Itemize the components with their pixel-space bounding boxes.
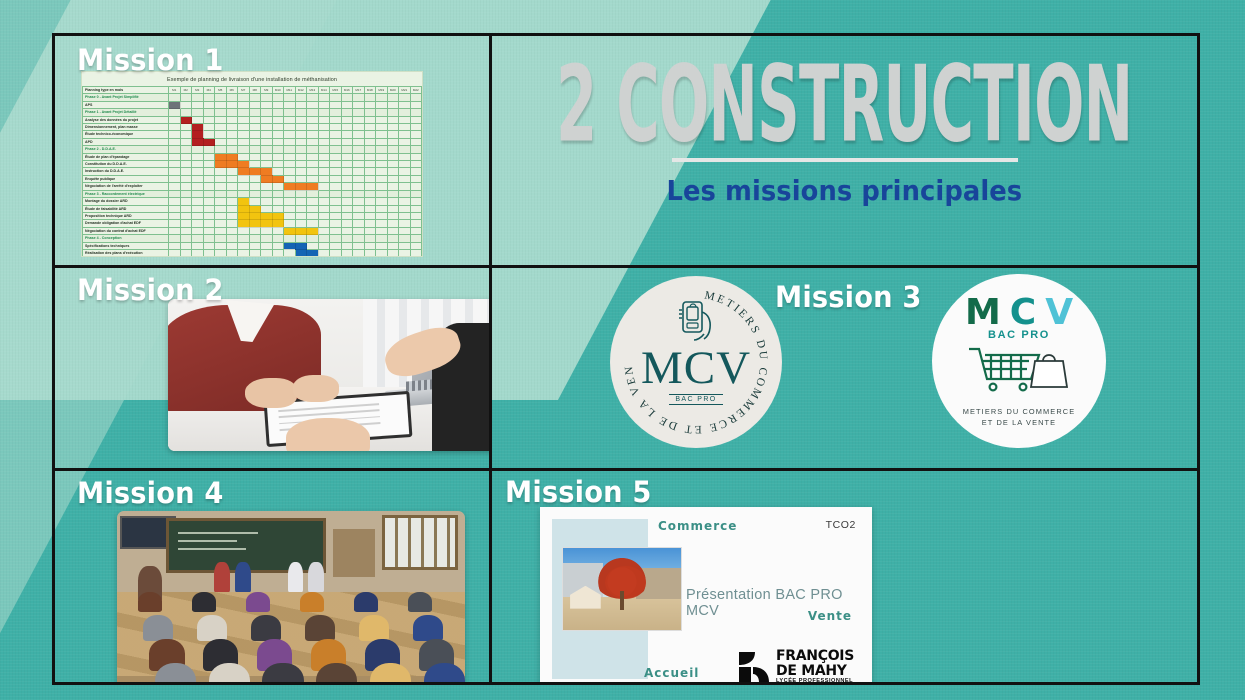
gantt-cell xyxy=(226,205,238,212)
gantt-cell xyxy=(169,242,181,249)
panel-mission-3[interactable]: Mission 3 METIERS DU COMMERCE ET DE LA V… xyxy=(492,268,1197,471)
gantt-cell xyxy=(410,235,422,242)
gantt-cell xyxy=(353,220,365,227)
gantt-cell xyxy=(376,190,388,197)
gantt-cell xyxy=(249,168,261,175)
gantt-cell xyxy=(238,242,250,249)
gantt-row: Phase 3 - Raccordement électrique xyxy=(83,190,422,197)
gantt-cell xyxy=(249,242,261,249)
gantt-cell xyxy=(284,116,296,123)
gantt-month-header: M8 xyxy=(249,87,261,94)
gantt-cell xyxy=(192,116,204,123)
gantt-row-label: Étude de plan d'épandage xyxy=(83,153,169,160)
gantt-month-header: M14 xyxy=(318,87,330,94)
gantt-cell xyxy=(169,220,181,227)
gantt-cell xyxy=(169,175,181,182)
gantt-cell xyxy=(192,205,204,212)
gantt-cell xyxy=(410,138,422,145)
gantt-cell xyxy=(169,183,181,190)
classroom-pupil xyxy=(138,592,162,612)
gantt-cell xyxy=(192,198,204,205)
classroom-pupil xyxy=(246,592,270,612)
gantt-row: Réalisation des plans d'exécution xyxy=(83,249,422,256)
gantt-cell xyxy=(376,109,388,116)
gantt-row-label: Constitution du D.D.A.E. xyxy=(83,161,169,168)
gantt-cell xyxy=(180,138,192,145)
gantt-cell xyxy=(295,116,307,123)
gantt-cell xyxy=(307,94,319,101)
gantt-cell xyxy=(284,94,296,101)
classroom-pupil xyxy=(300,592,324,612)
gantt-cell xyxy=(376,153,388,160)
gantt-row: APS xyxy=(83,101,422,108)
gantt-cell xyxy=(192,138,204,145)
gantt-month-header: M21 xyxy=(399,87,411,94)
gantt-cell xyxy=(295,190,307,197)
gantt-cell xyxy=(169,94,181,101)
gantt-cell xyxy=(307,198,319,205)
gantt-cell xyxy=(272,94,284,101)
gantt-cell xyxy=(330,220,342,227)
gantt-cell xyxy=(261,175,273,182)
gantt-cell xyxy=(387,94,399,101)
gantt-cell xyxy=(180,249,192,256)
gantt-cell xyxy=(215,235,227,242)
gantt-cell xyxy=(215,205,227,212)
gantt-cell xyxy=(341,124,353,131)
gantt-cell xyxy=(249,124,261,131)
school-subtitle: LYCÉE PROFESSIONNEL xyxy=(776,678,854,682)
gantt-cell xyxy=(307,161,319,168)
gantt-cell xyxy=(295,249,307,256)
gantt-cell xyxy=(410,190,422,197)
gantt-cell xyxy=(318,116,330,123)
gantt-month-header: M1 xyxy=(169,87,181,94)
gantt-cell xyxy=(341,235,353,242)
gantt-cell xyxy=(353,190,365,197)
gantt-row: Étude de plan d'épandage xyxy=(83,153,422,160)
gantt-cell xyxy=(180,109,192,116)
gantt-cell xyxy=(238,249,250,256)
gantt-cell xyxy=(318,220,330,227)
gantt-cell xyxy=(226,198,238,205)
gantt-cell xyxy=(307,153,319,160)
gantt-cell xyxy=(261,131,273,138)
gantt-cell xyxy=(307,227,319,234)
gantt-cell xyxy=(180,190,192,197)
gantt-cell xyxy=(410,131,422,138)
gantt-cell xyxy=(226,227,238,234)
gantt-row-label: Réalisation des plans d'exécution xyxy=(83,249,169,256)
gantt-cell xyxy=(215,161,227,168)
gantt-cell xyxy=(399,161,411,168)
gantt-cell xyxy=(410,227,422,234)
gantt-cell xyxy=(169,131,181,138)
gantt-cell xyxy=(180,124,192,131)
gantt-cell xyxy=(272,124,284,131)
gantt-cell xyxy=(192,183,204,190)
gantt-row-label: Négociation du contrat d'achat EDF xyxy=(83,227,169,234)
gantt-cell xyxy=(341,131,353,138)
mcv-footer-line-1: METIERS DU COMMERCE xyxy=(963,407,1075,418)
gantt-cell xyxy=(318,131,330,138)
gantt-row: APD xyxy=(83,138,422,145)
gantt-cell xyxy=(399,94,411,101)
gantt-cell xyxy=(330,190,342,197)
gantt-row: Proposition technique ARD xyxy=(83,212,422,219)
gantt-cell xyxy=(376,198,388,205)
gantt-cell xyxy=(284,212,296,219)
gantt-cell xyxy=(238,190,250,197)
mission-2-label: Mission 2 xyxy=(77,273,224,307)
gantt-cell xyxy=(399,168,411,175)
gantt-cell xyxy=(192,190,204,197)
gantt-cell xyxy=(169,153,181,160)
slide-photo xyxy=(562,547,682,631)
gantt-cell xyxy=(261,161,273,168)
gantt-cell xyxy=(387,220,399,227)
gantt-month-header: M16 xyxy=(341,87,353,94)
gantt-cell xyxy=(238,138,250,145)
gantt-cell xyxy=(192,242,204,249)
gantt-cell xyxy=(353,198,365,205)
gantt-cell xyxy=(238,168,250,175)
gantt-cell xyxy=(318,161,330,168)
gantt-cell xyxy=(238,175,250,182)
gantt-cell xyxy=(387,101,399,108)
gantt-cell xyxy=(318,138,330,145)
gantt-cell xyxy=(203,190,215,197)
gantt-cell xyxy=(169,124,181,131)
gantt-month-header: M10 xyxy=(272,87,284,94)
gantt-cell xyxy=(364,198,376,205)
gantt-cell xyxy=(249,249,261,256)
gantt-row-label: Phase 4 - Conception xyxy=(83,235,169,242)
gantt-cell xyxy=(318,242,330,249)
gantt-cell xyxy=(169,161,181,168)
gantt-cell xyxy=(180,116,192,123)
gantt-cell xyxy=(272,109,284,116)
mcv-letter-v: V xyxy=(1045,295,1073,331)
gantt-month-header: M15 xyxy=(330,87,342,94)
gantt-cell xyxy=(180,220,192,227)
gantt-cell xyxy=(261,101,273,108)
gantt-cell xyxy=(169,235,181,242)
gantt-cell xyxy=(364,138,376,145)
gantt-cell xyxy=(353,161,365,168)
slide-tag-vente: Vente xyxy=(808,609,852,623)
gantt-cell xyxy=(341,153,353,160)
gantt-cell xyxy=(203,116,215,123)
gantt-cell xyxy=(353,146,365,153)
gantt-cell xyxy=(364,249,376,256)
mcv-modern-logo: M C V BAC PRO xyxy=(932,274,1106,448)
gantt-cell xyxy=(307,183,319,190)
gantt-month-header: M22 xyxy=(410,87,422,94)
gantt-month-header: M5 xyxy=(215,87,227,94)
gantt-cell xyxy=(284,175,296,182)
gantt-cell xyxy=(272,183,284,190)
gantt-cell xyxy=(410,161,422,168)
classroom-pupil xyxy=(408,592,432,612)
panel-mission-4[interactable]: Mission 4 xyxy=(55,471,492,682)
gantt-cell xyxy=(341,190,353,197)
gantt-cell xyxy=(376,101,388,108)
gantt-cell xyxy=(215,168,227,175)
gantt-cell xyxy=(295,153,307,160)
gantt-cell xyxy=(318,153,330,160)
gantt-cell xyxy=(272,205,284,212)
gantt-row-label: Analyse des données du projet xyxy=(83,116,169,123)
gantt-cell xyxy=(387,212,399,219)
gantt-cell xyxy=(261,116,273,123)
gantt-cell xyxy=(341,161,353,168)
gantt-cell xyxy=(341,183,353,190)
gantt-cell xyxy=(399,131,411,138)
gantt-cell xyxy=(399,116,411,123)
mcv-letters: M C V xyxy=(965,295,1073,331)
gantt-cell xyxy=(215,124,227,131)
gantt-cell xyxy=(341,205,353,212)
gantt-cell xyxy=(376,249,388,256)
gantt-cell xyxy=(272,190,284,197)
gantt-cell xyxy=(272,235,284,242)
panel-mission-5[interactable]: Mission 5 Commerce TCO2 Présentation BAC… xyxy=(492,471,1197,682)
gantt-row-label: Spécifications techniques xyxy=(83,242,169,249)
gantt-cell xyxy=(307,131,319,138)
gantt-cell xyxy=(410,183,422,190)
gantt-cell xyxy=(226,101,238,108)
gantt-cell xyxy=(318,146,330,153)
gantt-cell xyxy=(330,198,342,205)
gantt-cell xyxy=(330,205,342,212)
gantt-cell xyxy=(295,101,307,108)
gantt-row: Dimensionnement, plan masse xyxy=(83,124,422,131)
gantt-cell xyxy=(284,227,296,234)
gantt-cell xyxy=(284,168,296,175)
gantt-cell xyxy=(353,109,365,116)
gantt-row: Étude de faisabilité ARD xyxy=(83,205,422,212)
slide-tag-commerce: Commerce xyxy=(658,519,737,533)
gantt-cell xyxy=(295,131,307,138)
gantt-cell xyxy=(295,161,307,168)
gantt-cell xyxy=(169,116,181,123)
panel-mission-1[interactable]: Mission 1 Exemple de planning de livrais… xyxy=(55,36,492,268)
gantt-cell xyxy=(307,138,319,145)
gantt-cell xyxy=(399,205,411,212)
gantt-row: Montage du dossier ARD xyxy=(83,198,422,205)
gantt-cell xyxy=(284,198,296,205)
gantt-cell xyxy=(284,249,296,256)
gantt-cell xyxy=(399,175,411,182)
gantt-cell xyxy=(307,124,319,131)
gantt-cell xyxy=(376,138,388,145)
gantt-month-header: M4 xyxy=(203,87,215,94)
classroom-pupil xyxy=(143,615,173,641)
gantt-cell xyxy=(387,249,399,256)
gantt-cell xyxy=(272,175,284,182)
gantt-cell xyxy=(180,212,192,219)
gantt-cell xyxy=(226,131,238,138)
gantt-row-label: Montage du dossier ARD xyxy=(83,198,169,205)
gantt-row: Instruction du D.D.A.E. xyxy=(83,168,422,175)
gantt-cell xyxy=(192,235,204,242)
gantt-cell xyxy=(387,109,399,116)
gantt-cell xyxy=(203,153,215,160)
gantt-cell xyxy=(364,227,376,234)
gantt-cell xyxy=(353,235,365,242)
gantt-cell xyxy=(364,131,376,138)
gantt-cell xyxy=(364,168,376,175)
gantt-cell xyxy=(399,235,411,242)
gantt-cell xyxy=(307,116,319,123)
gantt-row: Phase 4 - Conception xyxy=(83,235,422,242)
slide-tag-accueil: Accueil xyxy=(644,666,699,680)
gantt-cell xyxy=(399,242,411,249)
gantt-cell xyxy=(180,198,192,205)
gantt-cell xyxy=(180,242,192,249)
gantt-cell xyxy=(203,242,215,249)
gantt-cell xyxy=(295,205,307,212)
gantt-month-header: M2 xyxy=(180,87,192,94)
gantt-cell xyxy=(353,227,365,234)
gantt-cell xyxy=(376,227,388,234)
gantt-cell xyxy=(215,227,227,234)
gantt-cell xyxy=(410,94,422,101)
gantt-cell xyxy=(261,242,273,249)
gantt-cell xyxy=(272,249,284,256)
gantt-cell xyxy=(238,205,250,212)
mcv-modern-bacpro: BAC PRO xyxy=(988,329,1050,341)
gantt-cell xyxy=(261,183,273,190)
gantt-cell xyxy=(387,116,399,123)
gantt-cell xyxy=(226,190,238,197)
gantt-cell xyxy=(364,161,376,168)
gantt-cell xyxy=(410,146,422,153)
school-logo-mark xyxy=(737,650,771,682)
gantt-cell xyxy=(249,175,261,182)
mcv-footer-line-2: ET DE LA VENTE xyxy=(963,418,1075,429)
gantt-cell xyxy=(295,124,307,131)
gantt-cell xyxy=(387,242,399,249)
gantt-cell xyxy=(376,242,388,249)
gantt-cell xyxy=(261,94,273,101)
gantt-cell xyxy=(226,116,238,123)
panel-mission-2[interactable]: Mission 2 xyxy=(55,268,492,471)
gantt-cell xyxy=(226,161,238,168)
gantt-cell xyxy=(399,153,411,160)
gantt-cell xyxy=(364,116,376,123)
gantt-cell xyxy=(410,198,422,205)
gantt-cell xyxy=(410,249,422,256)
gantt-cell xyxy=(180,175,192,182)
gantt-cell xyxy=(318,205,330,212)
gantt-cell xyxy=(192,131,204,138)
gantt-cell xyxy=(330,153,342,160)
gantt-cell xyxy=(203,131,215,138)
gantt-cell xyxy=(341,227,353,234)
gantt-cell xyxy=(318,190,330,197)
gantt-row: Étude technico-économique xyxy=(83,131,422,138)
gantt-cell xyxy=(341,116,353,123)
gantt-cell xyxy=(215,198,227,205)
school-logo: FRANÇOIS DE MAHY LYCÉE PROFESSIONNEL xyxy=(737,649,854,682)
gantt-cell xyxy=(192,124,204,131)
gantt-cell xyxy=(261,109,273,116)
gantt-cell xyxy=(318,101,330,108)
gantt-cell xyxy=(215,116,227,123)
gantt-cell xyxy=(399,198,411,205)
gantt-month-header: M9 xyxy=(261,87,273,94)
gantt-body: Phase 0 - Avant Projet SimplifiéAPSPhase… xyxy=(83,94,422,257)
gantt-cell xyxy=(284,101,296,108)
gantt-cell xyxy=(364,183,376,190)
gantt-cell xyxy=(284,242,296,249)
gantt-cell xyxy=(215,101,227,108)
classroom-pupil xyxy=(197,615,227,641)
gantt-cell xyxy=(376,116,388,123)
gantt-row-label: Instruction du D.D.A.E. xyxy=(83,168,169,175)
gantt-cell xyxy=(387,205,399,212)
gantt-cell xyxy=(226,242,238,249)
gantt-cell xyxy=(353,175,365,182)
gantt-cell xyxy=(249,146,261,153)
gantt-cell xyxy=(261,168,273,175)
gantt-cell xyxy=(307,220,319,227)
gantt-cell xyxy=(249,109,261,116)
gantt-cell xyxy=(238,153,250,160)
gantt-cell xyxy=(399,109,411,116)
mission-1-label: Mission 1 xyxy=(77,43,224,77)
shopping-cart-icon xyxy=(965,343,1073,402)
gantt-cell xyxy=(341,220,353,227)
gantt-row-label: APS xyxy=(83,101,169,108)
gantt-cell xyxy=(272,198,284,205)
gantt-row-label: Étude technico-économique xyxy=(83,131,169,138)
presentation-slide: Commerce TCO2 Présentation BAC PRO MCV V… xyxy=(540,507,872,682)
gantt-cell xyxy=(410,220,422,227)
gantt-cell xyxy=(169,146,181,153)
gantt-cell xyxy=(364,212,376,219)
gantt-cell xyxy=(192,94,204,101)
gantt-cell xyxy=(261,220,273,227)
gantt-cell xyxy=(318,198,330,205)
gantt-cell xyxy=(215,175,227,182)
gantt-cell xyxy=(399,227,411,234)
gantt-row-label: Phase 0 - Avant Projet Simplifié xyxy=(83,94,169,101)
gantt-cell xyxy=(330,242,342,249)
gantt-cell xyxy=(203,101,215,108)
gantt-cell xyxy=(330,146,342,153)
mcv-letter-m: M xyxy=(965,295,1001,331)
gantt-cell xyxy=(364,101,376,108)
gantt-cell xyxy=(238,227,250,234)
gantt-cell xyxy=(295,242,307,249)
mission-4-label: Mission 4 xyxy=(77,476,224,510)
gantt-cell xyxy=(203,94,215,101)
gantt-cell xyxy=(192,227,204,234)
gantt-cell xyxy=(399,183,411,190)
gantt-cell xyxy=(399,138,411,145)
gantt-cell xyxy=(307,146,319,153)
gantt-cell xyxy=(295,183,307,190)
gantt-cell xyxy=(364,124,376,131)
gantt-cell xyxy=(203,220,215,227)
gantt-cell xyxy=(330,116,342,123)
gantt-cell xyxy=(330,168,342,175)
gantt-cell xyxy=(272,227,284,234)
gantt-cell xyxy=(180,146,192,153)
